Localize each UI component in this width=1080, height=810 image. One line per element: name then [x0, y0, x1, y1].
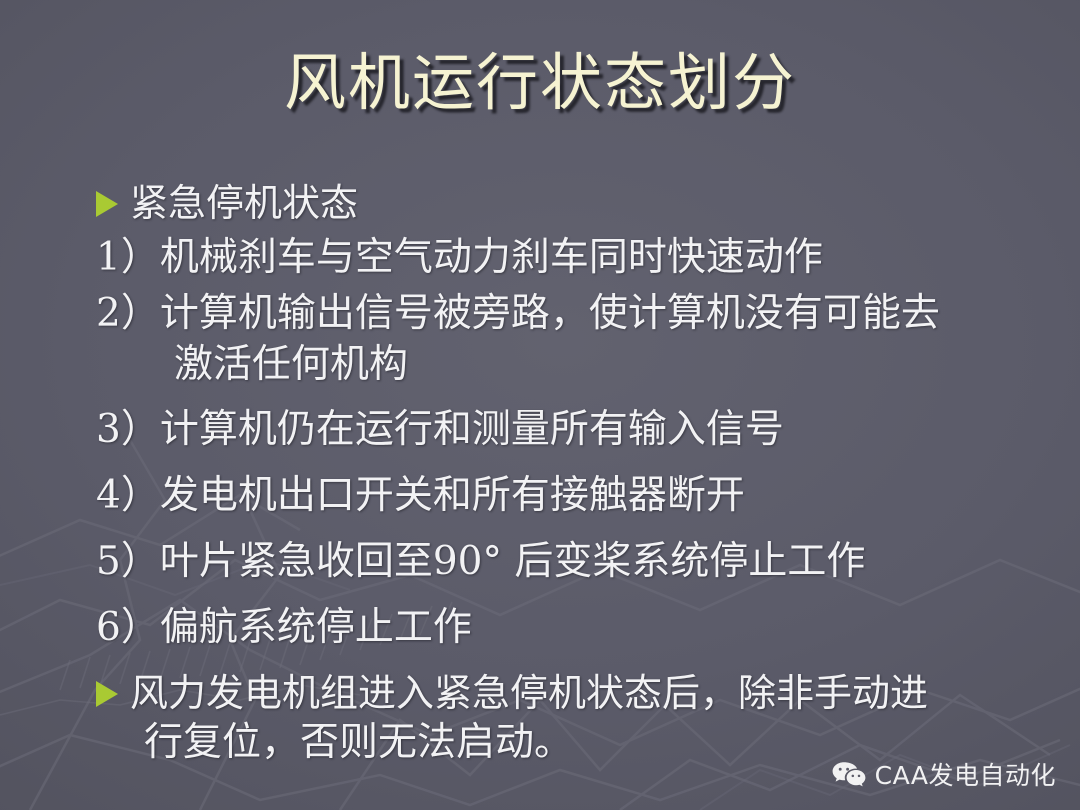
- page-title: 风机运行状态划分: [0, 52, 1080, 114]
- watermark: CAA发电自动化: [831, 756, 1056, 792]
- bullet-item-2: 风力发电机组进入紧急停机状态后，除非手动进: [96, 668, 1036, 718]
- triangle-bullet-icon: [96, 191, 118, 217]
- list-item-text: 计算机输出信号被旁路，使计算机没有可能去: [160, 288, 1036, 340]
- bullet-item-2-label: 风力发电机组进入紧急停机状态后，除非手动进: [130, 668, 1036, 718]
- list-item: 4） 发电机出口开关和所有接触器断开: [96, 470, 1036, 522]
- list-item-text: 偏航系统停止工作: [160, 602, 1036, 654]
- list-item: 6） 偏航系统停止工作: [96, 602, 1036, 654]
- list-item-text: 发电机出口开关和所有接触器断开: [160, 470, 1036, 522]
- list-item-text: 计算机仍在运行和测量所有输入信号: [160, 404, 1036, 456]
- wechat-icon: [831, 760, 867, 788]
- bullet-item-1: 紧急停机状态: [96, 178, 1036, 228]
- slide-body: 紧急停机状态 1） 机械刹车与空气动力刹车同时快速动作 2） 计算机输出信号被旁…: [96, 178, 1036, 768]
- list-item-number: 2）: [96, 288, 160, 340]
- list-item-number: 6）: [96, 602, 160, 654]
- list-item-number: 4）: [96, 470, 160, 522]
- list-item-number: 5）: [96, 536, 160, 588]
- triangle-bullet-icon: [96, 681, 118, 707]
- slide-canvas: 风机运行状态划分 紧急停机状态 1） 机械刹车与空气动力刹车同时快速动作 2） …: [0, 0, 1080, 810]
- list-item: 5） 叶片紧急收回至90° 后变桨系统停止工作: [96, 536, 1036, 588]
- list-item: 1） 机械刹车与空气动力刹车同时快速动作: [96, 232, 1036, 284]
- list-item-text: 机械刹车与空气动力刹车同时快速动作: [160, 232, 1036, 284]
- list-item-number: 3）: [96, 404, 160, 456]
- list-item: 2） 计算机输出信号被旁路，使计算机没有可能去: [96, 288, 1036, 340]
- bullet-item-1-label: 紧急停机状态: [130, 178, 1036, 228]
- list-item-continuation: 激活任何机构: [96, 340, 1036, 390]
- list-item-number: 1）: [96, 232, 160, 284]
- list-item-text: 叶片紧急收回至90° 后变桨系统停止工作: [160, 536, 1036, 588]
- watermark-label: CAA发电自动化: [875, 756, 1056, 792]
- list-item: 3） 计算机仍在运行和测量所有输入信号: [96, 404, 1036, 456]
